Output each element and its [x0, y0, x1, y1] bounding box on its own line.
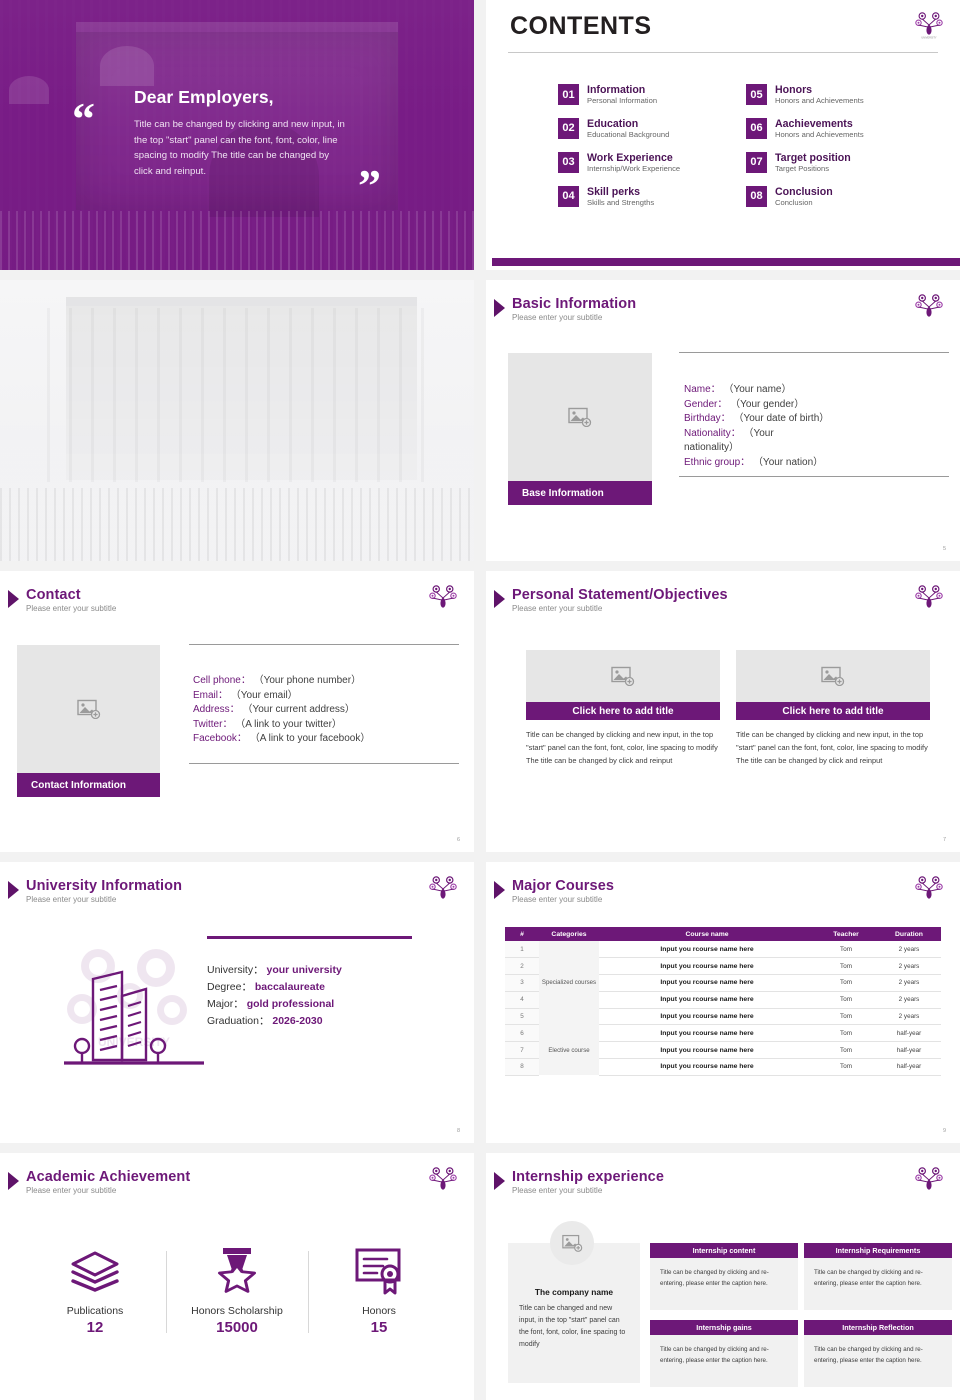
cell-course: Input you rcourse name here	[599, 1059, 815, 1076]
brand-logo-icon	[914, 583, 944, 613]
cell-duration: half-year	[877, 1059, 941, 1076]
contents-bottom-bar	[492, 258, 960, 266]
slide-personal-statement[interactable]: Personal Statement/Objectives Please ent…	[486, 571, 960, 852]
image-placeholder-icon	[568, 407, 592, 427]
info-key: Facebook：	[193, 733, 247, 744]
certificate-icon	[308, 1245, 450, 1297]
stat-label: Honors Scholarship	[166, 1305, 308, 1317]
achievement-stats-row: Publications 12 Honors Scholarship 15000	[0, 1245, 474, 1336]
statement-body-text: Title can be changed by clicking and new…	[736, 729, 930, 768]
slide-header: Internship experience Please enter your …	[494, 1169, 664, 1195]
triangle-bullet-icon	[494, 1172, 505, 1190]
brand-logo-icon	[914, 1165, 944, 1195]
cell-teacher: Tom	[815, 991, 877, 1008]
stat-card-scholarship[interactable]: Honors Scholarship 15000	[166, 1245, 308, 1336]
toc-subtitle: Internship/Work Experience	[587, 165, 680, 174]
close-quote-icon: ”	[358, 163, 379, 209]
cell-index: 5	[505, 1008, 539, 1025]
triangle-bullet-icon	[494, 590, 505, 608]
stat-value: 12	[24, 1319, 166, 1336]
toc-number: 04	[558, 186, 579, 207]
stat-card-publications[interactable]: Publications 12	[24, 1245, 166, 1336]
image-placeholder-icon	[611, 666, 635, 686]
info-row: Nationality： （Your	[684, 427, 949, 442]
slide-basic-information[interactable]: Basic Information Please enter your subt…	[486, 280, 960, 561]
info-key: Birthday：	[684, 413, 731, 424]
image-placeholder-icon	[77, 699, 101, 719]
triangle-bullet-icon	[494, 881, 505, 899]
column-header-course: Course name	[599, 927, 815, 941]
info-value: （Your phone number）	[254, 675, 361, 686]
toc-title: Information	[587, 84, 657, 96]
toc-number: 07	[746, 152, 767, 173]
info-value: gold professional	[247, 998, 335, 1010]
toc-title: Honors	[775, 84, 864, 96]
slide-contents[interactable]: CONTENTS UNIVERSITY 01 Informatio	[486, 0, 960, 270]
card-title: Internship Requirements	[804, 1243, 952, 1258]
page-title: Basic Information	[512, 296, 636, 312]
card-title: Internship Reflection	[804, 1320, 952, 1335]
info-value: nationality）	[684, 442, 739, 453]
brand-logo-icon	[428, 583, 458, 613]
statement-card[interactable]: Click here to add title Title can be cha…	[736, 650, 930, 768]
info-key: Graduation：	[207, 1015, 269, 1027]
info-key: Nationality：	[684, 428, 741, 439]
toc-subtitle: Personal Information	[587, 97, 657, 106]
info-row: nationality）	[684, 441, 949, 456]
cell-duration: 2 years	[877, 991, 941, 1008]
cell-duration: half-year	[877, 1025, 941, 1042]
info-key: Email：	[193, 690, 228, 701]
column-header-teacher: Teacher	[815, 927, 877, 941]
slide-header: Contact Please enter your subtitle	[8, 587, 116, 613]
cell-index: 8	[505, 1059, 539, 1076]
info-row: Gender： （Your gender）	[684, 398, 949, 413]
info-value: your university	[267, 964, 342, 976]
stat-label: Publications	[24, 1305, 166, 1317]
table-row[interactable]: 1 Specialized courses Input you rcourse …	[505, 941, 941, 958]
building-columns-texture	[47, 308, 426, 482]
info-row: Email： （Your email）	[193, 689, 459, 704]
contact-info-list: Cell phone： （Your phone number） Email： （…	[189, 644, 459, 764]
page-number: 9	[943, 1128, 946, 1134]
info-row: Twitter： （A link to your twitter）	[193, 718, 459, 733]
image-placeholder-icon	[821, 666, 845, 686]
cell-course: Input you rcourse name here	[599, 958, 815, 975]
svg-text:UNIVERSITY: UNIVERSITY	[921, 36, 937, 40]
cell-index: 7	[505, 1042, 539, 1059]
triangle-bullet-icon	[8, 881, 19, 899]
info-value: （Your date of birth）	[733, 413, 829, 424]
info-row: Major： gold professional	[207, 996, 412, 1013]
slide-header: Academic Achievement Please enter your s…	[8, 1169, 190, 1195]
contents-title: CONTENTS	[510, 12, 652, 41]
slide-section-divider[interactable]: 01 Personal Information Personal Informa…	[0, 280, 474, 561]
company-name: The company name	[519, 1287, 629, 1297]
cell-teacher: Tom	[815, 1008, 877, 1025]
toc-title: Conclusion	[775, 186, 833, 198]
company-description: Title can be changed and new input, in t…	[519, 1303, 629, 1351]
statement-card[interactable]: Click here to add title Title can be cha…	[526, 650, 720, 768]
university-illustration: UNIVERSITY	[60, 934, 208, 1080]
info-value: （Your gender）	[730, 399, 804, 410]
page-subtitle: Please enter your subtitle	[512, 1186, 664, 1195]
toc-item[interactable]: 02 Education Educational Background	[558, 118, 732, 140]
column-header-category: Categories	[539, 927, 599, 941]
column-header-duration: Duration	[877, 927, 941, 941]
info-value: （Your nation）	[753, 457, 823, 468]
slide-contact[interactable]: Contact Please enter your subtitle	[0, 571, 474, 852]
slide-header: Basic Information Please enter your subt…	[494, 296, 636, 322]
card-body: Title can be changed by clicking and re-…	[650, 1335, 798, 1387]
cell-course: Input you rcourse name here	[599, 975, 815, 992]
internship-card[interactable]: Internship gains Title can be changed by…	[650, 1320, 798, 1387]
statement-caption-bar[interactable]: Click here to add title	[526, 702, 720, 720]
stat-value: 15	[308, 1319, 450, 1336]
column-header-index: #	[505, 927, 539, 941]
info-value: （Your current address）	[242, 704, 354, 715]
slide-university-information[interactable]: University Information Please enter your…	[0, 862, 474, 1143]
stat-card-honors[interactable]: Honors 15	[308, 1245, 450, 1336]
medal-icon	[166, 1245, 308, 1297]
page-number: 7	[943, 837, 946, 843]
page-title: Personal Statement/Objectives	[512, 587, 728, 603]
internship-card[interactable]: Internship content Title can be changed …	[650, 1243, 798, 1310]
page-title: Academic Achievement	[26, 1169, 190, 1185]
card-title: Internship gains	[650, 1320, 798, 1335]
page-subtitle: Please enter your subtitle	[26, 604, 116, 613]
cell-category-specialized: Specialized courses	[539, 941, 599, 1025]
info-value: （Your name）	[723, 384, 791, 395]
slide-deck-grid: “ Dear Employers, Title can be changed b…	[0, 0, 960, 1400]
toc-number: 06	[746, 118, 767, 139]
toc-title: Skill perks	[587, 186, 654, 198]
page-number: 8	[457, 1128, 460, 1134]
toc-title: Aachievements	[775, 118, 864, 130]
card-body: Title can be changed by clicking and re-…	[804, 1258, 952, 1310]
cell-teacher: Tom	[815, 958, 877, 975]
cell-duration: half-year	[877, 1042, 941, 1059]
open-quote-icon: “	[72, 96, 93, 142]
contents-divider-rule	[508, 52, 938, 53]
page-number: 6	[457, 837, 460, 843]
info-row: Birthday： （Your date of birth）	[684, 412, 949, 427]
cell-duration: 2 years	[877, 975, 941, 992]
statement-caption-bar[interactable]: Click here to add title	[736, 702, 930, 720]
toc-number: 05	[746, 84, 767, 105]
toc-subtitle: Target Positions	[775, 165, 851, 174]
statement-photo-placeholder[interactable]	[736, 650, 930, 702]
brand-logo-icon	[914, 874, 944, 904]
slide-academic-achievement[interactable]: Academic Achievement Please enter your s…	[0, 1153, 474, 1400]
info-key: University：	[207, 964, 264, 976]
card-body: Title can be changed by clicking and re-…	[804, 1335, 952, 1387]
stat-label: Honors	[308, 1305, 450, 1317]
profile-photo-placeholder[interactable]	[508, 353, 652, 481]
toc-item[interactable]: 08 Conclusion Conclusion	[746, 186, 920, 208]
statement-body-text: Title can be changed by clicking and new…	[526, 729, 720, 768]
page-title: Major Courses	[512, 878, 614, 894]
cell-teacher: Tom	[815, 1025, 877, 1042]
cell-course: Input you rcourse name here	[599, 1042, 815, 1059]
courses-table[interactable]: # Categories Course name Teacher Duratio…	[505, 927, 941, 1076]
triangle-bullet-icon	[8, 1172, 19, 1190]
cell-index: 2	[505, 958, 539, 975]
brand-logo-icon	[428, 1165, 458, 1195]
cell-duration: 2 years	[877, 941, 941, 958]
cell-index: 6	[505, 1025, 539, 1042]
info-row: Name： （Your name）	[684, 383, 949, 398]
info-key: Name：	[684, 384, 721, 395]
slide-header: Personal Statement/Objectives Please ent…	[494, 587, 728, 613]
card-body: Title can be changed by clicking and re-…	[650, 1258, 798, 1310]
info-row: Graduation： 2026-2030	[207, 1013, 412, 1030]
info-value: （A link to your facebook）	[250, 733, 371, 744]
cell-course: Input you rcourse name here	[599, 1008, 815, 1025]
statement-photo-placeholder[interactable]	[526, 650, 720, 702]
info-key: Gender：	[684, 399, 727, 410]
page-subtitle: Please enter your subtitle	[512, 604, 728, 613]
cell-index: 1	[505, 941, 539, 958]
contact-photo-placeholder[interactable]	[17, 645, 160, 773]
toc-number: 02	[558, 118, 579, 139]
toc-subtitle: Skills and Strengths	[587, 199, 654, 208]
brand-logo-icon: UNIVERSITY	[914, 10, 944, 40]
info-value: 2026-2030	[272, 1015, 322, 1027]
brand-logo-icon	[428, 874, 458, 904]
slide-cover[interactable]: “ Dear Employers, Title can be changed b…	[0, 0, 474, 270]
toc-item[interactable]: 04 Skill perks Skills and Strengths	[558, 186, 732, 208]
internship-card[interactable]: Internship Requirements Title can be cha…	[804, 1243, 952, 1310]
cover-quote-block: “ Dear Employers, Title can be changed b…	[0, 0, 474, 270]
basic-info-list: Name： （Your name） Gender： （Your gender） …	[679, 352, 949, 477]
info-key: Address：	[193, 704, 240, 715]
photo-caption-bar[interactable]: Base Information	[508, 481, 652, 505]
triangle-bullet-icon	[494, 299, 505, 317]
toc-title: Education	[587, 118, 669, 130]
info-row: Address： （Your current address）	[193, 703, 459, 718]
info-key: Ethnic group：	[684, 457, 750, 468]
info-key: Degree：	[207, 981, 252, 993]
brand-logo-icon	[914, 292, 944, 322]
toc-item[interactable]: 01 Information Personal Information	[558, 84, 732, 106]
info-value: baccalaureate	[255, 981, 325, 993]
page-subtitle: Please enter your subtitle	[26, 1186, 190, 1195]
info-key: Twitter：	[193, 719, 232, 730]
cell-duration: 2 years	[877, 1008, 941, 1025]
info-row: Degree： baccalaureate	[207, 979, 412, 996]
info-row: Ethnic group： （Your nation）	[684, 456, 949, 471]
university-info-block: University： your university Degree： bacc…	[207, 936, 412, 1048]
table-row[interactable]: 6 Elective course Input you rcourse name…	[505, 1025, 941, 1042]
cell-course: Input you rcourse name here	[599, 991, 815, 1008]
toc-number: 03	[558, 152, 579, 173]
toc-title: Work Experience	[587, 152, 680, 164]
slide-header: University Information Please enter your…	[8, 878, 182, 904]
info-key: Major：	[207, 998, 244, 1010]
triangle-bullet-icon	[8, 590, 19, 608]
slide-major-courses[interactable]: Major Courses Please enter your subtitle…	[486, 862, 960, 1143]
info-value: （Your	[743, 428, 773, 439]
toc-number: 01	[558, 84, 579, 105]
cell-index: 3	[505, 975, 539, 992]
cell-category-elective: Elective course	[539, 1025, 599, 1075]
cover-body-text: Title can be changed by clicking and new…	[134, 117, 349, 179]
cell-teacher: Tom	[815, 1059, 877, 1076]
cell-teacher: Tom	[815, 975, 877, 992]
image-placeholder-icon	[562, 1234, 583, 1252]
toc-number: 08	[746, 186, 767, 207]
page-number: 5	[943, 546, 946, 552]
page-subtitle: Please enter your subtitle	[26, 895, 182, 904]
info-row: University： your university	[207, 962, 412, 979]
cover-title: Dear Employers,	[134, 87, 274, 108]
card-title: Internship content	[650, 1243, 798, 1258]
stat-value: 15000	[166, 1319, 308, 1336]
info-row: Cell phone： （Your phone number）	[193, 674, 459, 689]
books-icon	[24, 1245, 166, 1297]
cell-duration: 2 years	[877, 958, 941, 975]
cell-teacher: Tom	[815, 1042, 877, 1059]
contents-list: 01 Information Personal Information 05 H…	[558, 84, 920, 208]
table-header-row: # Categories Course name Teacher Duratio…	[505, 927, 941, 941]
photo-caption-bar[interactable]: Contact Information	[17, 773, 160, 797]
page-title: University Information	[26, 878, 182, 894]
cell-course: Input you rcourse name here	[599, 1025, 815, 1042]
toc-subtitle: Educational Background	[587, 131, 669, 140]
slide-internship-experience[interactable]: Internship experience Please enter your …	[486, 1153, 960, 1400]
cell-teacher: Tom	[815, 941, 877, 958]
page-subtitle: Please enter your subtitle	[512, 895, 614, 904]
toc-title: Target position	[775, 152, 851, 164]
internship-card[interactable]: Internship Reflection Title can be chang…	[804, 1320, 952, 1387]
list-bottom-rule	[679, 476, 949, 477]
page-title: Internship experience	[512, 1169, 664, 1185]
page-title: Contact	[26, 587, 116, 603]
company-logo-placeholder[interactable]	[550, 1221, 594, 1265]
info-value: （A link to your twitter）	[235, 719, 342, 730]
toc-item[interactable]: 06 Aachievements Honors and Achievements	[746, 118, 920, 140]
cell-index: 4	[505, 991, 539, 1008]
cell-course: Input you rcourse name here	[599, 941, 815, 958]
info-value: （Your email）	[231, 690, 298, 701]
toc-subtitle: Honors and Achievements	[775, 131, 864, 140]
list-bottom-rule	[189, 763, 459, 764]
info-row: Facebook： （A link to your facebook）	[193, 732, 459, 747]
toc-item[interactable]: 03 Work Experience Internship/Work Exper…	[558, 152, 732, 174]
info-key: Cell phone：	[193, 675, 251, 686]
toc-item[interactable]: 07 Target position Target Positions	[746, 152, 920, 174]
toc-item[interactable]: 05 Honors Honors and Achievements	[746, 84, 920, 106]
toc-subtitle: Conclusion	[775, 199, 833, 208]
toc-subtitle: Honors and Achievements	[775, 97, 864, 106]
page-subtitle: Please enter your subtitle	[512, 313, 636, 322]
slide-header: Major Courses Please enter your subtitle	[494, 878, 614, 904]
